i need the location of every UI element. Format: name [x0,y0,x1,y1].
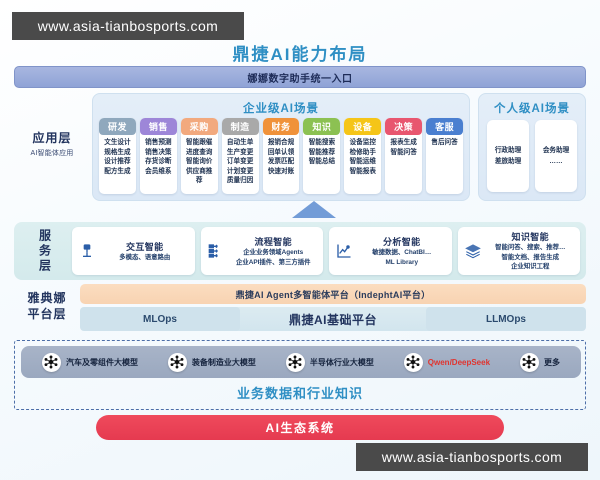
service-card-desc: 敏捷数据、ChatBI… [358,249,446,258]
service-card-list: 交互智能多模态、语意路由 流程智能企业业务领域Agents企业API插件、第三方… [72,227,580,275]
service-card-desc: 智能文档、报告生成 [487,254,575,263]
enterprise-card-header: 决策 [385,118,422,135]
personal-card[interactable]: 行政助理差旅助理 [487,120,529,192]
enterprise-card-item: 智能搜索 [309,138,335,148]
service-card[interactable]: 流程智能企业业务领域Agents企业API插件、第三方插件 [201,227,324,275]
model-node-icon [168,353,187,372]
enterprise-card-item: 销售决策 [145,148,171,158]
application-layer: 应用层 AI智能体应用 企业级AI场景 研发文生设计规格生成设计推荐配方生成销售… [14,93,586,201]
personal-card-item: 行政助理 [495,146,521,156]
model-node-icon [520,353,539,372]
enterprise-card-item: 设计推荐 [104,157,130,167]
top-watermark: www.asia-tianbosports.com [12,12,244,40]
service-card-text: 流程智能企业业务领域Agents企业API插件、第三方插件 [230,235,318,268]
enterprise-card[interactable]: 销售销售预测销售决策存货诊断会员维系 [140,118,177,194]
enterprise-card-item: 文生设计 [104,138,130,148]
model-item-label: 半导体行业大模型 [310,357,374,368]
chart-line-icon [335,243,353,259]
platform-layer-label-line2: 平台层 [18,306,76,322]
service-card[interactable]: 分析智能敏捷数据、ChatBI…ML Library [329,227,452,275]
enterprise-card[interactable]: 采购智能跟催进度查询智能询价供应商推荐 [181,118,218,194]
database-stack-icon [464,243,482,259]
application-layer-label-sub: AI智能体应用 [14,148,90,158]
enterprise-card-item: 报销合规 [268,138,294,148]
personal-card-list: 行政助理差旅助理会务助理…… [487,120,577,192]
personal-card-item: 差旅助理 [495,157,521,167]
enterprise-card[interactable]: 决策报表生成智能问答 [385,118,422,194]
model-list: 汽车及零组件大模型 装备制造业大模型 半导体行业大模型 Qwen/DeepSee… [21,346,581,378]
enterprise-card-header: 设备 [344,118,381,135]
enterprise-card-item: 存货诊断 [145,157,171,167]
service-card-title: 流程智能 [230,235,318,248]
enterprise-card-item: 订单变更 [227,157,253,167]
enterprise-card-item: 自动生单 [227,138,253,148]
model-item[interactable]: 半导体行业大模型 [286,353,374,372]
enterprise-scenarios-title: 企业级AI场景 [93,100,469,116]
enterprise-card[interactable]: 研发文生设计规格生成设计推荐配方生成 [99,118,136,194]
service-card-desc: 企业业务领域Agents [230,249,318,258]
service-card-title: 知识智能 [487,230,575,243]
enterprise-card-item: 进度查询 [186,148,212,158]
enterprise-card-item: 发票匹配 [268,157,294,167]
enterprise-card-item: 设备监控 [350,138,376,148]
enterprise-card-body: 售后问答 [426,135,463,194]
enterprise-card-item: 智能报表 [350,167,376,177]
service-card-text: 知识智能智能问答、搜索、推荐…智能文档、报告生成企业知识工程 [487,230,575,273]
enterprise-card-item: 报表生成 [390,138,416,148]
platform-layer-label-line1: 雅典娜 [18,290,76,306]
service-card-title: 交互智能 [101,240,189,253]
enterprise-card-header: 研发 [99,118,136,135]
enterprise-card-header: 制造 [222,118,259,135]
enterprise-card-item: 智能运维 [350,157,376,167]
service-card[interactable]: 交互智能多模态、语意路由 [72,227,195,275]
model-item[interactable]: 更多 [520,353,560,372]
ecosystem-bar: AI生态系统 [96,415,504,440]
enterprise-card-item: 销售预测 [145,138,171,148]
enterprise-card[interactable]: 客服售后问答 [426,118,463,194]
upward-arrow-icon [292,201,336,218]
service-layer-label: 服务层 [18,228,72,274]
model-layer-footer: 业务数据和行业知识 [15,383,585,402]
personal-scenarios-title: 个人级AI场景 [479,100,585,116]
enterprise-card[interactable]: 知识智能搜索智能推荐智能总结 [303,118,340,194]
enterprise-card-item: 荐 [196,176,203,186]
model-item-label: 汽车及零组件大模型 [66,357,138,368]
enterprise-card-header: 知识 [303,118,340,135]
enterprise-card-item: 快速对账 [268,167,294,177]
application-layer-label: 应用层 AI智能体应用 [14,129,90,158]
service-card-desc: 多模态、语意路由 [101,254,189,263]
model-layer: 汽车及零组件大模型 装备制造业大模型 半导体行业大模型 Qwen/DeepSee… [14,340,586,410]
enterprise-card-body: 销售预测销售决策存货诊断会员维系 [140,135,177,194]
bottom-watermark: www.asia-tianbosports.com [356,443,588,471]
model-item-label: Qwen/DeepSeek [428,358,490,367]
enterprise-card[interactable]: 设备设备监控检修助手智能运维智能报表 [344,118,381,194]
enterprise-card-body: 报销合规回单认领发票匹配快速对账 [263,135,300,194]
enterprise-card-item: 智能问答 [390,148,416,158]
base-platform-bar: MLOps LLMOps 鼎捷AI基础平台 [80,307,586,331]
enterprise-card-header: 财务 [263,118,300,135]
enterprise-card-body: 自动生单生产变更订单变更计划变更质量归因 [222,135,259,194]
enterprise-card-body: 文生设计规格生成设计推荐配方生成 [99,135,136,194]
model-node-icon [404,353,423,372]
enterprise-card-body: 智能跟催进度查询智能询价供应商推荐 [181,135,218,194]
agent-platform-bar[interactable]: 鼎捷AI Agent多智能体平台（IndephtAI平台） [80,284,586,304]
personal-scenarios-panel: 个人级AI场景 行政助理差旅助理会务助理…… [478,93,586,201]
model-item[interactable]: 装备制造业大模型 [168,353,256,372]
enterprise-card-item: 配方生成 [104,167,130,177]
base-platform-label: 鼎捷AI基础平台 [80,307,586,331]
enterprise-card-header: 销售 [140,118,177,135]
enterprise-card-item: 智能总结 [309,157,335,167]
model-item[interactable]: Qwen/DeepSeek [404,353,490,372]
model-item-label: 更多 [544,357,560,368]
enterprise-card-list: 研发文生设计规格生成设计推荐配方生成销售销售预测销售决策存货诊断会员维系采购智能… [99,118,463,194]
enterprise-card-item: 供应商推 [186,167,212,177]
enterprise-card-item: 规格生成 [104,148,130,158]
enterprise-card-item: 生产变更 [227,148,253,158]
model-node-icon [42,353,61,372]
enterprise-card-item: 智能推荐 [309,148,335,158]
service-card[interactable]: 知识智能智能问答、搜索、推荐…智能文档、报告生成企业知识工程 [458,227,581,275]
enterprise-card[interactable]: 制造自动生单生产变更订单变更计划变更质量归因 [222,118,259,194]
enterprise-card-item: 会员维系 [145,167,171,177]
nana-entry-bar[interactable]: 娜娜数字助手统一入口 [14,66,586,88]
enterprise-card[interactable]: 财务报销合规回单认领发票匹配快速对账 [263,118,300,194]
enterprise-card-body: 智能搜索智能推荐智能总结 [303,135,340,194]
service-card-text: 分析智能敏捷数据、ChatBI…ML Library [358,235,446,268]
enterprise-card-item: 计划变更 [227,167,253,177]
enterprise-card-item: 质量归因 [227,176,253,186]
enterprise-card-item: 智能询价 [186,157,212,167]
enterprise-card-body: 设备监控检修助手智能运维智能报表 [344,135,381,194]
enterprise-card-header: 采购 [181,118,218,135]
service-card-desc: 智能问答、搜索、推荐… [487,244,575,253]
service-card-desc: ML Library [358,259,446,268]
model-node-icon [286,353,305,372]
enterprise-card-item: 售后问答 [431,138,457,148]
enterprise-card-item: 检修助手 [350,148,376,158]
personal-card-item: …… [549,157,562,167]
enterprise-card-item: 智能跟催 [186,138,212,148]
service-layer: 服务层 交互智能多模态、语意路由 流程智能企业业务领域Agents企业API插件… [14,222,586,280]
personal-card[interactable]: 会务助理…… [535,120,577,192]
platform-layer-label: 雅典娜 平台层 [18,290,76,322]
model-item-label: 装备制造业大模型 [192,357,256,368]
enterprise-card-body: 报表生成智能问答 [385,135,422,194]
enterprise-card-item: 回单认领 [268,148,294,158]
enterprise-card-header: 客服 [426,118,463,135]
model-item[interactable]: 汽车及零组件大模型 [42,353,138,372]
personal-card-item: 会务助理 [543,146,569,156]
node-network-icon [78,243,96,259]
service-card-desc: 企业API插件、第三方插件 [230,259,318,268]
workflow-icon [207,243,225,259]
application-layer-label-main: 应用层 [14,129,90,146]
service-card-title: 分析智能 [358,235,446,248]
page-title: 鼎捷AI能力布局 [0,40,600,65]
service-card-desc: 企业知识工程 [487,263,575,272]
service-card-text: 交互智能多模态、语意路由 [101,240,189,263]
enterprise-scenarios-panel: 企业级AI场景 研发文生设计规格生成设计推荐配方生成销售销售预测销售决策存货诊断… [92,93,470,201]
